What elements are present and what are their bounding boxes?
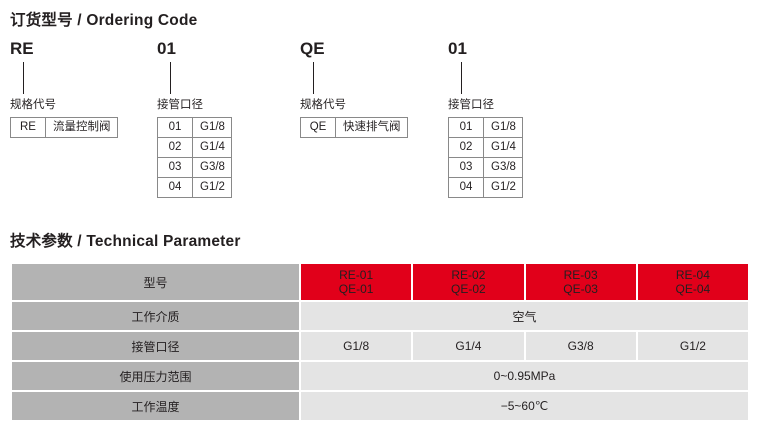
connector-line — [23, 62, 24, 94]
row-label: 接管口径 — [11, 331, 300, 361]
option-value: G1/2 — [484, 178, 523, 198]
table-row: 03 G3/8 — [449, 158, 523, 178]
row-value: G1/4 — [412, 331, 524, 361]
table-row-medium: 工作介质 空气 — [11, 301, 749, 331]
row-value: G1/8 — [300, 331, 412, 361]
connector-line — [461, 62, 462, 94]
option-key: 04 — [158, 178, 193, 198]
row-value: G1/2 — [637, 331, 749, 361]
table-row: 01 G1/8 — [158, 118, 232, 138]
option-key: 04 — [449, 178, 484, 198]
option-key: RE — [11, 118, 46, 138]
model-name-re: RE-02 — [451, 268, 485, 282]
ordering-code-label: RE — [10, 38, 118, 60]
row-value: G3/8 — [525, 331, 637, 361]
ordering-column-qe: QE 规格代号 QE 快速排气阀 — [300, 38, 408, 138]
table-row: 02 G1/4 — [449, 138, 523, 158]
option-key: 03 — [449, 158, 484, 178]
row-value: 空气 — [300, 301, 749, 331]
option-key: 03 — [158, 158, 193, 178]
table-row: 03 G3/8 — [158, 158, 232, 178]
option-value: G1/2 — [193, 178, 232, 198]
ordering-option-table: 01 G1/8 02 G1/4 03 G3/8 04 G1/2 — [157, 117, 232, 198]
model-header-cell: RE-04 QE-04 — [637, 263, 749, 301]
table-row: QE 快速排气阀 — [301, 118, 408, 138]
row-value: 0~0.95MPa — [300, 361, 749, 391]
ordering-code-label: QE — [300, 38, 408, 60]
table-row: RE 流量控制阀 — [11, 118, 118, 138]
option-value: G1/4 — [484, 138, 523, 158]
ordering-option-table: 01 G1/8 02 G1/4 03 G3/8 04 G1/2 — [448, 117, 523, 198]
table-row-port-size: 接管口径 G1/8 G1/4 G3/8 G1/2 — [11, 331, 749, 361]
option-value: G1/8 — [484, 118, 523, 138]
option-value: 流量控制阀 — [46, 118, 118, 138]
option-key: QE — [301, 118, 336, 138]
option-key: 01 — [158, 118, 193, 138]
technical-parameter-title: 技术参数 / Technical Parameter — [10, 229, 241, 251]
connector-line — [170, 62, 171, 94]
option-value: G1/4 — [193, 138, 232, 158]
model-header-cell: RE-02 QE-02 — [412, 263, 524, 301]
option-key: 02 — [449, 138, 484, 158]
ordering-code-title: 订货型号 / Ordering Code — [10, 8, 197, 30]
model-name-qe: QE-04 — [638, 282, 748, 296]
row-label: 使用压力范围 — [11, 361, 300, 391]
ordering-column-caption: 规格代号 — [300, 98, 408, 112]
model-name-qe: QE-03 — [526, 282, 636, 296]
table-row: 04 G1/2 — [449, 178, 523, 198]
table-row: 02 G1/4 — [158, 138, 232, 158]
model-header-cell: RE-03 QE-03 — [525, 263, 637, 301]
row-value: −5~60℃ — [300, 391, 749, 421]
model-name-qe: QE-02 — [413, 282, 523, 296]
row-label: 型号 — [11, 263, 300, 301]
ordering-option-table: RE 流量控制阀 — [10, 117, 118, 138]
ordering-column-re-size: 01 接管口径 01 G1/8 02 G1/4 03 G3/8 04 G1/2 — [157, 38, 232, 198]
option-value: 快速排气阀 — [336, 118, 408, 138]
technical-parameter-table: 型号 RE-01 QE-01 RE-02 QE-02 RE-03 QE-03 R… — [10, 262, 750, 422]
model-header-cell: RE-01 QE-01 — [300, 263, 412, 301]
table-row-pressure-range: 使用压力范围 0~0.95MPa — [11, 361, 749, 391]
option-key: 01 — [449, 118, 484, 138]
connector-line — [313, 62, 314, 94]
ordering-column-caption: 接管口径 — [157, 98, 232, 112]
ordering-column-re: RE 规格代号 RE 流量控制阀 — [10, 38, 118, 138]
ordering-code-label: 01 — [157, 38, 232, 60]
model-name-re: RE-04 — [676, 268, 710, 282]
table-row-model: 型号 RE-01 QE-01 RE-02 QE-02 RE-03 QE-03 R… — [11, 263, 749, 301]
table-row: 01 G1/8 — [449, 118, 523, 138]
model-name-qe: QE-01 — [301, 282, 411, 296]
option-value: G3/8 — [484, 158, 523, 178]
model-name-re: RE-01 — [339, 268, 373, 282]
ordering-code-label: 01 — [448, 38, 523, 60]
ordering-column-caption: 规格代号 — [10, 98, 118, 112]
option-value: G3/8 — [193, 158, 232, 178]
row-label: 工作温度 — [11, 391, 300, 421]
table-row-temperature: 工作温度 −5~60℃ — [11, 391, 749, 421]
ordering-column-qe-size: 01 接管口径 01 G1/8 02 G1/4 03 G3/8 04 G1/2 — [448, 38, 523, 198]
option-key: 02 — [158, 138, 193, 158]
model-name-re: RE-03 — [564, 268, 598, 282]
row-label: 工作介质 — [11, 301, 300, 331]
ordering-column-caption: 接管口径 — [448, 98, 523, 112]
option-value: G1/8 — [193, 118, 232, 138]
ordering-option-table: QE 快速排气阀 — [300, 117, 408, 138]
table-row: 04 G1/2 — [158, 178, 232, 198]
